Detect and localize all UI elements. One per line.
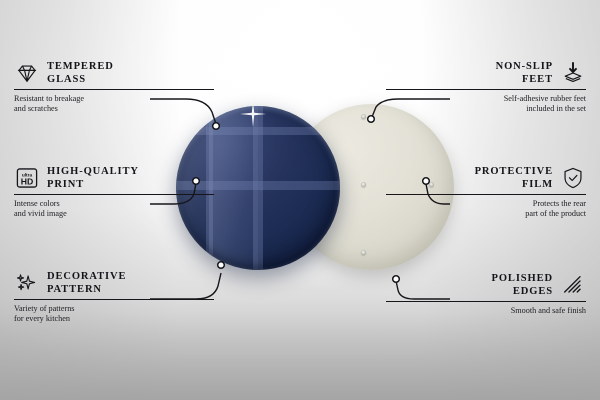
feature-heading: TEMPERED GLASS bbox=[14, 60, 214, 86]
feature-rule bbox=[386, 89, 586, 90]
feature-heading: POLISHED EDGES bbox=[386, 272, 586, 298]
feature-title: NON-SLIP FEET bbox=[496, 60, 553, 86]
diamond-icon bbox=[14, 60, 40, 86]
feature-tempered-glass: TEMPERED GLASS Resistant to breakage and… bbox=[14, 60, 214, 115]
feature-description: Intense colors and vivid image bbox=[14, 199, 214, 220]
sparkles-icon bbox=[14, 270, 40, 296]
feature-rule bbox=[386, 194, 586, 195]
feature-heading: ultra HD HIGH-QUALITY PRINT bbox=[14, 165, 214, 191]
feature-rule bbox=[14, 89, 214, 90]
feature-polished-edges: POLISHED EDGES Smooth and safe finish bbox=[386, 272, 586, 316]
feature-title: POLISHED EDGES bbox=[492, 272, 553, 298]
feature-rule bbox=[14, 299, 214, 300]
feature-title: DECORATIVE PATTERN bbox=[47, 270, 126, 296]
infographic-canvas: TEMPERED GLASS Resistant to breakage and… bbox=[0, 0, 600, 400]
feature-title: TEMPERED GLASS bbox=[47, 60, 114, 86]
feature-heading: NON-SLIP FEET bbox=[386, 60, 586, 86]
ultra-hd-badge-icon: ultra HD bbox=[14, 165, 40, 191]
rubber-foot bbox=[361, 114, 366, 119]
feature-rule bbox=[386, 301, 586, 302]
sparkle-icon bbox=[240, 106, 266, 127]
press-down-feet-icon bbox=[560, 60, 586, 86]
polished-edge-hatch-icon bbox=[560, 272, 586, 298]
feature-description: Self-adhesive rubber feet included in th… bbox=[386, 94, 586, 115]
rubber-foot bbox=[361, 250, 366, 255]
feature-non-slip-feet: NON-SLIP FEET Self-adhesive rubber feet … bbox=[386, 60, 586, 115]
feature-decorative-pattern: DECORATIVE PATTERN Variety of patterns f… bbox=[14, 270, 214, 325]
svg-text:HD: HD bbox=[21, 177, 34, 187]
feature-rule bbox=[14, 194, 214, 195]
rubber-foot bbox=[361, 182, 366, 187]
feature-high-quality-print: ultra HD HIGH-QUALITY PRINT Intense colo… bbox=[14, 165, 214, 220]
feature-description: Protects the rear part of the product bbox=[386, 199, 586, 220]
feature-title: PROTECTIVE FILM bbox=[475, 165, 553, 191]
feature-description: Variety of patterns for every kitchen bbox=[14, 304, 214, 325]
feature-description: Resistant to breakage and scratches bbox=[14, 94, 214, 115]
shield-check-icon bbox=[560, 165, 586, 191]
feature-protective-film: PROTECTIVE FILM Protects the rear part o… bbox=[386, 165, 586, 220]
feature-heading: DECORATIVE PATTERN bbox=[14, 270, 214, 296]
feature-title: HIGH-QUALITY PRINT bbox=[47, 165, 139, 191]
feature-heading: PROTECTIVE FILM bbox=[386, 165, 586, 191]
feature-description: Smooth and safe finish bbox=[386, 306, 586, 316]
